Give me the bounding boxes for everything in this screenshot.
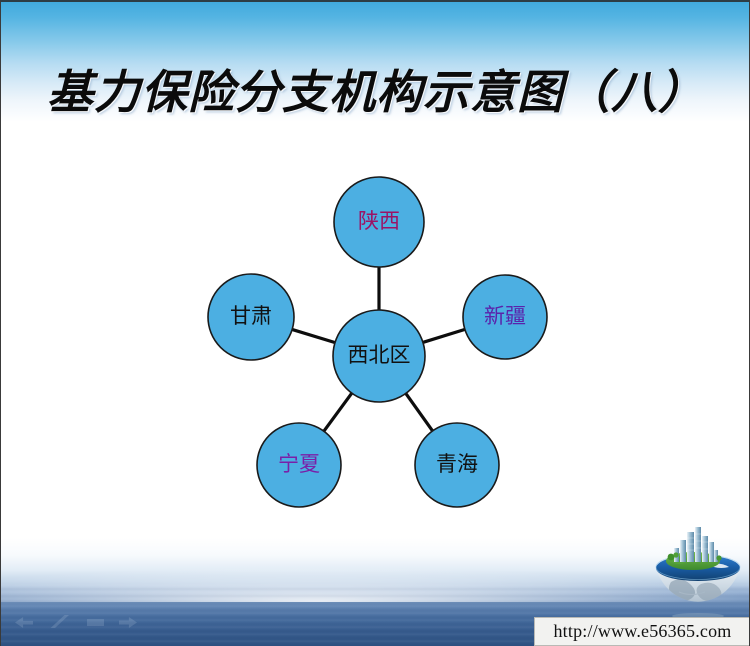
node-label-新疆: 新疆 (484, 304, 526, 328)
connector-line-甘肃 (291, 329, 336, 343)
diagram-node-青海[interactable]: 青海 (415, 423, 499, 507)
node-label-甘肃: 甘肃 (230, 304, 272, 328)
node-label-青海: 青海 (436, 452, 478, 476)
diagram-node-甘肃[interactable]: 甘肃 (208, 274, 294, 360)
connector-line-青海 (405, 393, 433, 432)
globe-city-logo-icon (649, 524, 747, 620)
connector-line-宁夏 (323, 392, 352, 432)
diagram-node-宁夏[interactable]: 宁夏 (257, 423, 341, 507)
diagram-nodes: 西北区陕西新疆青海宁夏甘肃 (208, 177, 547, 507)
website-url-plate[interactable]: http://www.e56365.com (534, 617, 750, 646)
node-label-陕西: 陕西 (358, 209, 400, 233)
slide-canvas: 基力保险分支机构示意图（八） 西北区陕西新疆青海宁夏甘肃 (0, 0, 750, 646)
diagram-node-新疆[interactable]: 新疆 (463, 275, 547, 359)
diagram-node-西北区[interactable]: 西北区 (333, 310, 425, 402)
connector-line-新疆 (422, 329, 466, 343)
website-url-text: http://www.e56365.com (553, 621, 731, 642)
node-label-西北区: 西北区 (348, 343, 411, 367)
diagram-node-陕西[interactable]: 陕西 (334, 177, 424, 267)
node-label-宁夏: 宁夏 (278, 452, 320, 476)
